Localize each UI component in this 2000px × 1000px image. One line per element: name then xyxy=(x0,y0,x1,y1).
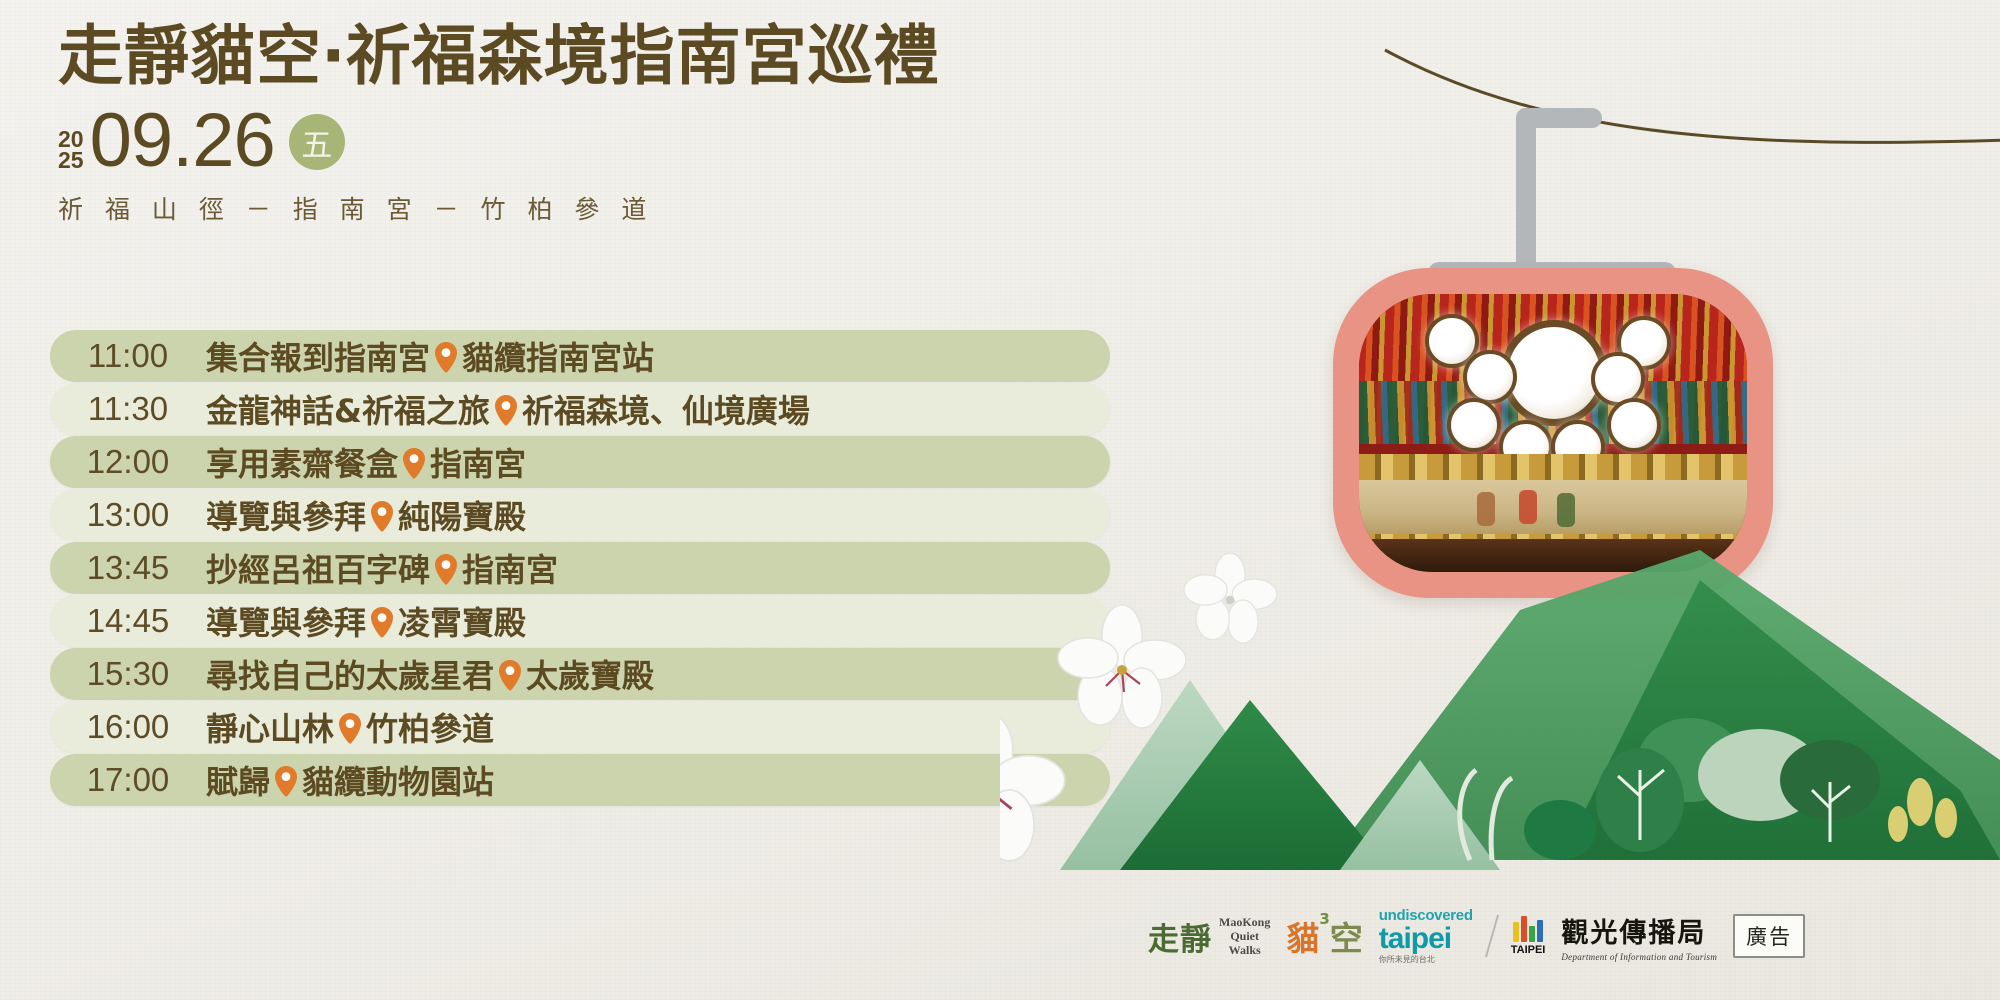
logo-maokong-cube: 貓 3 空 xyxy=(1286,912,1362,960)
schedule-location: 指南宮 xyxy=(430,439,526,485)
schedule-time: 13:45 xyxy=(50,549,206,587)
event-month-day: 09.26 xyxy=(90,106,275,176)
schedule-location: 凌霄寶殿 xyxy=(398,598,526,644)
schedule-description: 導覽與參拜純陽寶殿 xyxy=(206,492,526,538)
schedule-location: 太歲寶殿 xyxy=(526,651,654,697)
schedule-location: 指南宮 xyxy=(462,545,558,591)
schedule-time: 16:00 xyxy=(50,708,206,746)
poster-canvas: 走靜貓空‧祈福森境指南宮巡禮 20 25 09.26 五 祈 福 山 徑 － 指… xyxy=(0,0,2000,1000)
logo-divider xyxy=(1485,915,1499,958)
schedule-description: 享用素齋餐盒指南宮 xyxy=(206,439,526,485)
schedule-activity: 賦歸 xyxy=(206,757,270,803)
weekday-badge: 五 xyxy=(289,114,345,170)
schedule-time: 12:00 xyxy=(50,443,206,481)
title-block: 走靜貓空‧祈福森境指南宮巡禮 20 25 09.26 五 祈 福 山 徑 － 指… xyxy=(58,22,1058,226)
schedule-description: 集合報到指南宮貓纜指南宮站 xyxy=(206,333,654,379)
schedule-activity: 導覽與參拜 xyxy=(206,492,366,538)
zoujing-en-line3: Walks xyxy=(1229,943,1261,957)
location-pin-icon xyxy=(497,659,523,693)
maokong-kong-char: 空 xyxy=(1330,912,1363,960)
schedule-description: 靜心山林竹柏參道 xyxy=(206,704,494,750)
location-pin-icon xyxy=(433,341,459,375)
schedule-location: 純陽寶殿 xyxy=(398,492,526,538)
schedule-time: 15:30 xyxy=(50,655,206,693)
schedule-description: 金龍神話&祈福之旅祈福森境、仙境廣場 xyxy=(206,386,810,432)
location-pin-icon xyxy=(433,553,459,587)
schedule-location: 貓纜指南宮站 xyxy=(462,333,654,379)
logo-maokong-quiet-walks: 走靜 MaoKong Quiet Walks xyxy=(1148,914,1270,959)
schedule-time: 11:00 xyxy=(50,337,206,375)
schedule-description: 抄經呂祖百字碑指南宮 xyxy=(206,545,558,591)
location-pin-icon xyxy=(493,394,519,428)
schedule-description: 尋找自己的太歲星君太歲寶殿 xyxy=(206,651,654,697)
schedule-row: 11:30金龍神話&祈福之旅祈福森境、仙境廣場 xyxy=(50,383,1110,435)
taipei-tagline: 你所未見的台北 xyxy=(1379,956,1473,964)
schedule-activity: 金龍神話&祈福之旅 xyxy=(206,386,490,432)
schedule-time: 13:00 xyxy=(50,496,206,534)
ad-badge: 廣告 xyxy=(1733,914,1805,958)
taipei-undiscovered-label: undiscovered xyxy=(1379,908,1473,923)
logo-taipei-city-mark: TAIPEI xyxy=(1511,916,1546,956)
maokong-cat-char: 貓 xyxy=(1286,912,1319,960)
schedule-activity: 抄經呂祖百字碑 xyxy=(206,545,430,591)
schedule-time: 14:45 xyxy=(50,602,206,640)
schedule-time: 11:30 xyxy=(50,390,206,428)
schedule-row: 12:00享用素齋餐盒指南宮 xyxy=(50,436,1110,488)
schedule-row: 15:30尋找自己的太歲星君太歲寶殿 xyxy=(50,648,1110,700)
event-year: 20 25 xyxy=(58,129,84,173)
schedule-row: 13:00導覽與參拜純陽寶殿 xyxy=(50,489,1110,541)
taipei-wordmark: taipei xyxy=(1379,924,1473,954)
cable-line-icon xyxy=(1330,20,2000,160)
schedule-row: 14:45導覽與參拜凌霄寶殿 xyxy=(50,595,1110,647)
year-bottom: 25 xyxy=(58,150,84,172)
schedule-row: 17:00賦歸貓纜動物園站 xyxy=(50,754,1110,806)
maokong-superscript: 3 xyxy=(1319,910,1329,928)
schedule-description: 賦歸貓纜動物園站 xyxy=(206,757,494,803)
schedule-location: 竹柏參道 xyxy=(366,704,494,750)
dit-en-label: Department of Information and Tourism xyxy=(1561,952,1717,962)
zoujing-en-line1: MaoKong xyxy=(1219,915,1270,929)
schedule-time: 17:00 xyxy=(50,761,206,799)
temple-lamp xyxy=(1463,350,1517,404)
schedule-row: 11:00集合報到指南宮貓纜指南宮站 xyxy=(50,330,1110,382)
zoujing-en-label: MaoKong Quiet Walks xyxy=(1219,915,1270,957)
schedule-location: 貓纜動物園站 xyxy=(302,757,494,803)
logo-undiscovered-taipei: undiscovered taipei 你所未見的台北 xyxy=(1379,908,1473,964)
schedule-activity: 尋找自己的太歲星君 xyxy=(206,651,494,697)
location-pin-icon xyxy=(401,447,427,481)
location-pin-icon xyxy=(369,606,395,640)
landscape-illustration xyxy=(1000,430,2000,930)
schedule-row: 13:45抄經呂祖百字碑指南宮 xyxy=(50,542,1110,594)
taipei-mark-label: TAIPEI xyxy=(1511,944,1546,956)
schedule-activity: 享用素齋餐盒 xyxy=(206,439,398,485)
schedule-description: 導覽與參拜凌霄寶殿 xyxy=(206,598,526,644)
schedule-activity: 導覽與參拜 xyxy=(206,598,366,644)
schedule-list: 11:00集合報到指南宮貓纜指南宮站11:30金龍神話&祈福之旅祈福森境、仙境廣… xyxy=(50,330,1110,807)
taipei-mark-bars xyxy=(1513,916,1543,942)
schedule-row: 16:00靜心山林竹柏參道 xyxy=(50,701,1110,753)
schedule-activity: 集合報到指南宮 xyxy=(206,333,430,379)
zoujing-en-line2: Quiet xyxy=(1230,929,1259,943)
location-pin-icon xyxy=(273,765,299,799)
zoujing-cn-label: 走靜 xyxy=(1148,914,1212,959)
schedule-location: 祈福森境、仙境廣場 xyxy=(522,386,810,432)
footer-logo-bar: 走靜 MaoKong Quiet Walks 貓 3 空 undiscovere… xyxy=(1148,900,1938,972)
location-pin-icon xyxy=(369,500,395,534)
dit-cn-label: 觀光傳播局 xyxy=(1561,911,1717,950)
route-subtitle: 祈 福 山 徑 － 指 南 宮 － 竹 柏 參 道 xyxy=(58,190,1058,226)
event-date: 20 25 09.26 五 xyxy=(58,102,1058,176)
page-title: 走靜貓空‧祈福森境指南宮巡禮 xyxy=(58,22,1058,92)
logo-department-information-tourism: 觀光傳播局 Department of Information and Tour… xyxy=(1561,911,1717,962)
location-pin-icon xyxy=(337,712,363,746)
schedule-activity: 靜心山林 xyxy=(206,704,334,750)
